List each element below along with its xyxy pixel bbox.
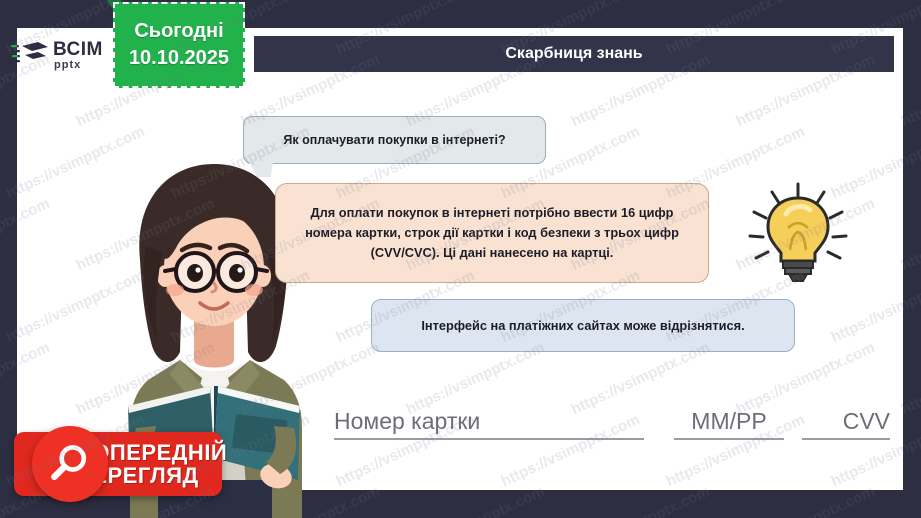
graduation-cap-icon — [8, 40, 48, 70]
page-title: Скарбниця знань — [505, 45, 642, 63]
date-badge-label: Сьогодні — [134, 20, 223, 43]
lightbulb-icon — [742, 178, 854, 286]
date-badge: Сьогодні 10.10.2025 — [113, 2, 245, 88]
speech-bubble-question: Як оплачувати покупки в інтернеті? — [243, 116, 546, 164]
speech-bubble-note: Інтерфейс на платіжних сайтах може відрі… — [371, 299, 795, 352]
card-number-field[interactable]: Номер картки — [334, 408, 644, 440]
slide-viewer: ВСІМ pptx Сьогодні 10.10.2025 Скарбниця … — [0, 0, 921, 518]
speech-bubble-question-text: Як оплачувати покупки в інтернеті? — [283, 133, 505, 147]
brand-logo: ВСІМ pptx — [8, 32, 108, 78]
logo-wordmark: ВСІМ — [53, 40, 103, 59]
preview-watermark-badge: ПОПЕРЕДНІЙ ПЕРЕГЛЯД — [14, 432, 222, 496]
speech-bubble-note-text: Інтерфейс на платіжних сайтах може відрі… — [421, 318, 744, 333]
speech-bubble-answer: Для оплати покупок в інтернеті потрібно … — [275, 183, 709, 283]
card-expiry-field[interactable]: MM/PP — [674, 408, 784, 440]
date-badge-value: 10.10.2025 — [129, 47, 229, 70]
card-cvv-label: CVV — [802, 408, 890, 438]
slide-title-bar: Скарбниця знань — [254, 36, 894, 72]
logo-subtext: pptx — [54, 60, 103, 71]
card-cvv-field[interactable]: CVV — [802, 408, 890, 440]
card-expiry-label: MM/PP — [674, 408, 784, 438]
payment-card-form: Номер картки MM/PP CVV — [334, 400, 890, 440]
magnifier-icon — [32, 426, 108, 502]
speech-bubble-answer-text: Для оплати покупок в інтернеті потрібно … — [292, 203, 692, 264]
card-number-label: Номер картки — [334, 408, 644, 438]
